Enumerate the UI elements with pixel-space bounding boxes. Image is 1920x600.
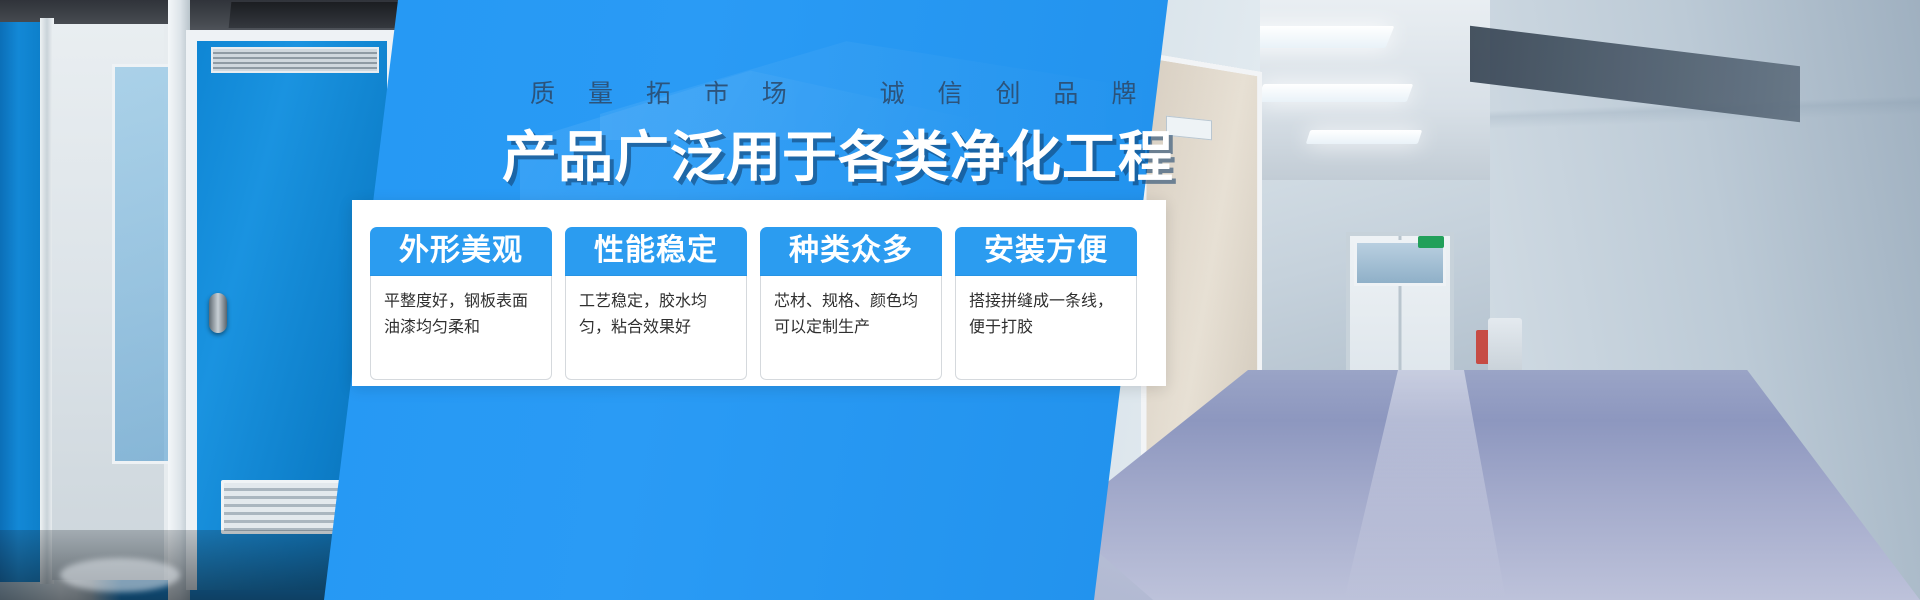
feature-card-text: 搭接拼缝成一条线，便于打胶 (955, 276, 1137, 380)
feature-card-text: 芯材、规格、颜色均可以定制生产 (760, 276, 942, 380)
floor-highlight (60, 558, 180, 592)
feature-card-title: 安装方便 (955, 227, 1137, 276)
feature-card-title: 外形美观 (370, 227, 552, 276)
feature-card[interactable]: 安装方便 搭接拼缝成一条线，便于打胶 (955, 227, 1137, 380)
ceiling-light (1306, 130, 1423, 144)
ceiling-light (1257, 84, 1414, 102)
door-handle (209, 293, 227, 333)
exit-sign-icon (1418, 236, 1444, 248)
feature-card-title: 种类众多 (760, 227, 942, 276)
feature-card-text: 平整度好，钢板表面油漆均匀柔和 (370, 276, 552, 380)
feature-cards-panel: 外形美观 平整度好，钢板表面油漆均匀柔和 性能稳定 工艺稳定，胶水均匀，粘合效果… (352, 200, 1166, 386)
feature-card-text: 工艺稳定，胶水均匀，粘合效果好 (565, 276, 747, 380)
feature-card[interactable]: 外形美观 平整度好，钢板表面油漆均匀柔和 (370, 227, 552, 380)
promo-banner: 质 量 拓 市 场 诚 信 创 品 牌 产品广泛用于各类净化工程 外形美观 平整… (0, 0, 1920, 600)
feature-card-title: 性能稳定 (565, 227, 747, 276)
feature-card[interactable]: 种类众多 芯材、规格、颜色均可以定制生产 (760, 227, 942, 380)
door-top-vent (211, 47, 379, 73)
feature-card[interactable]: 性能稳定 工艺稳定，胶水均匀，粘合效果好 (565, 227, 747, 380)
cabin-unit-b (52, 24, 172, 580)
